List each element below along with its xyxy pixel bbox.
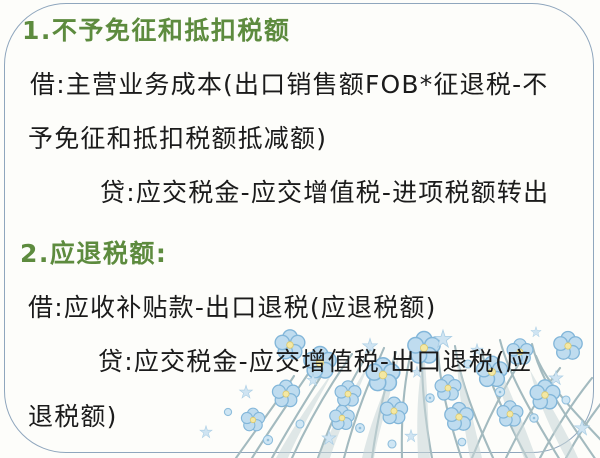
section-1-line-3: 贷:应交税金-应交增值税-进项税额转出 — [100, 180, 549, 205]
note-text-layer: 1.不予免征和抵扣税额 借:主营业务成本(出口销售额FOB*征退税-不 予免征和… — [0, 0, 600, 458]
note-card: 1.不予免征和抵扣税额 借:主营业务成本(出口销售额FOB*征退税-不 予免征和… — [0, 0, 600, 458]
section-1-line-2: 予免征和抵扣税额抵减额) — [28, 126, 327, 151]
section-1-heading: 1.不予免征和抵扣税额 — [22, 18, 290, 43]
section-2-line-2: 贷:应交税金-应交增值税-出口退税(应 — [98, 349, 532, 374]
section-2-heading: 2.应退税额: — [20, 241, 167, 266]
section-2-line-1: 借:应收补贴款-出口退税(应退税额) — [28, 295, 437, 320]
section-1-line-1: 借:主营业务成本(出口销售额FOB*征退税-不 — [30, 72, 549, 97]
section-2-line-3: 退税额) — [28, 404, 118, 429]
